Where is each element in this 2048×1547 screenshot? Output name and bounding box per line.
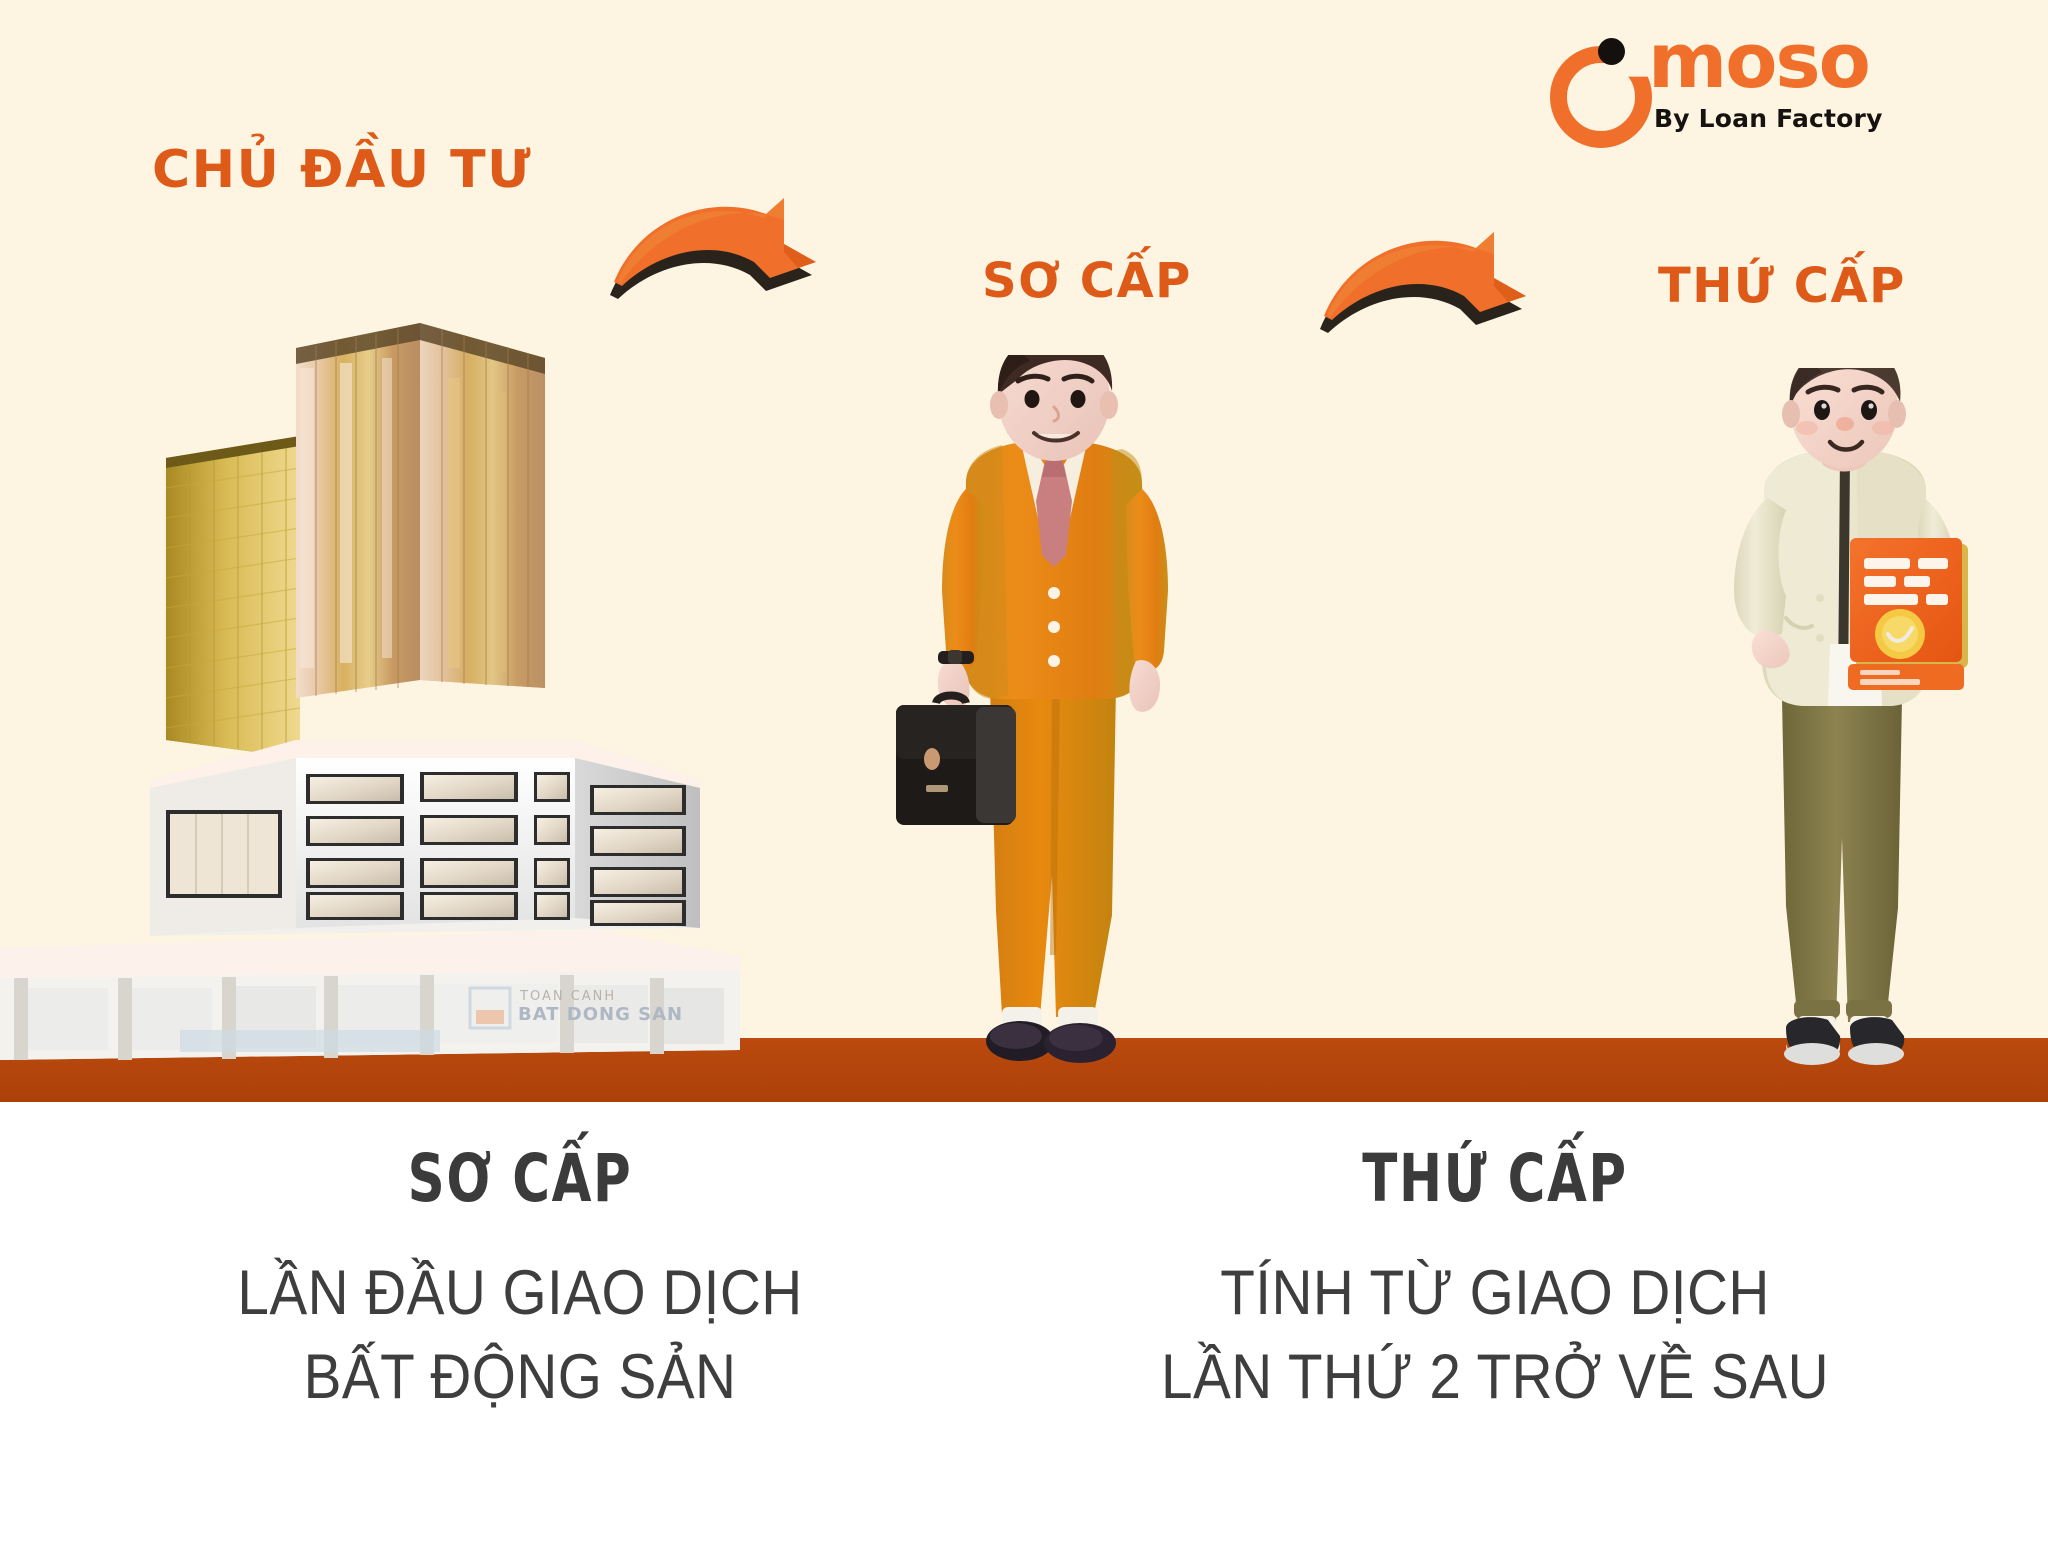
businessman-with-briefcase xyxy=(880,355,1240,1095)
brand-logo: moso By Loan Factory xyxy=(1548,18,1968,138)
comparison-column-so-cap: SƠ CẤP LẦN ĐẦU GIAO DỊCH BẤT ĐỘNG SẢN xyxy=(75,1140,965,1419)
label-chu-dau-tu: CHỦ ĐẦU TƯ xyxy=(152,140,532,200)
label-so-cap: SƠ CẤP xyxy=(982,253,1192,309)
column-heading: SƠ CẤP xyxy=(173,1140,867,1217)
column-line: BẤT ĐỘNG SẢN xyxy=(120,1335,921,1419)
infographic-canvas: moso By Loan Factory CHỦ ĐẦU TƯ SƠ CẤP T… xyxy=(0,0,2048,1547)
column-heading: THỨ CẤP xyxy=(1113,1140,1877,1217)
column-line: LẦN ĐẦU GIAO DỊCH xyxy=(120,1251,921,1335)
logo-wordmark: moso xyxy=(1648,22,1869,100)
curved-arrow-right-icon xyxy=(1318,228,1578,343)
logo-tagline: By Loan Factory xyxy=(1654,104,1883,133)
column-line: LẦN THỨ 2 TRỞ VỀ SAU xyxy=(1054,1335,1936,1419)
building-sign-line-1: TOAN CANH xyxy=(519,989,616,1004)
label-thu-cap: THỨ CẤP xyxy=(1658,258,1906,314)
column-line: TÍNH TỪ GIAO DỊCH xyxy=(1054,1251,1936,1335)
building-sign-line-2: BAT DONG SAN xyxy=(518,1004,683,1025)
man-holding-certificate xyxy=(1690,368,2000,1092)
real-estate-building-illustration: TOAN CANH BAT DONG SAN xyxy=(0,288,740,1066)
comparison-column-thu-cap: THỨ CẤP TÍNH TỪ GIAO DỊCH LẦN THỨ 2 TRỞ … xyxy=(1005,1140,1985,1419)
moso-ring-icon xyxy=(1548,32,1632,116)
